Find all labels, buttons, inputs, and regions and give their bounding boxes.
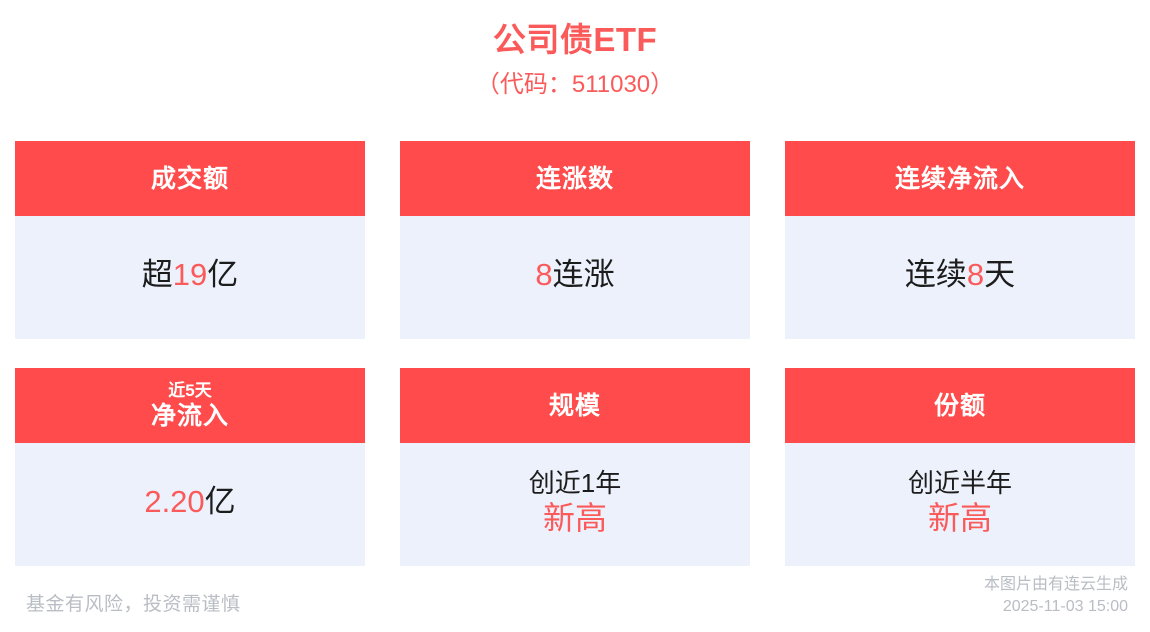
value-number: 19: [173, 257, 207, 292]
value-number: 2.20: [144, 484, 204, 519]
card-header-consecutive-gains: 连涨数: [400, 141, 750, 216]
card-body-fund-size: 创近1年 新高: [400, 443, 750, 566]
card-header-shares: 份额: [785, 368, 1135, 443]
card-header-label: 连涨数: [536, 163, 614, 195]
metric-card-grid: 成交额 超19亿 连涨数 8连涨 连续净流入 连续8天 近5天 净流入 2.20…: [15, 141, 1135, 566]
card-body-5day-net-inflow: 2.20亿: [15, 443, 365, 566]
page-title: 公司债ETF: [0, 18, 1150, 62]
card-value-line: 创近1年: [529, 467, 621, 499]
card-header-5day-net-inflow: 近5天 净流入: [15, 368, 365, 443]
page-header: 公司债ETF （代码：511030）: [0, 0, 1150, 104]
value-suffix: 天: [984, 257, 1015, 292]
metric-card-consecutive-net-inflow[interactable]: 连续净流入 连续8天: [785, 141, 1135, 339]
value-prefix: 连续: [905, 257, 967, 292]
card-value-highlight: 新高: [543, 499, 607, 537]
credit-timestamp: 2025-11-03 15:00: [984, 596, 1128, 618]
card-body-turnover: 超19亿: [15, 216, 365, 339]
card-header-label: 净流入: [151, 401, 229, 431]
value-prefix: 超: [142, 257, 173, 292]
value-suffix: 亿: [207, 257, 238, 292]
risk-disclaimer: 基金有风险，投资需谨慎: [26, 592, 241, 618]
card-value-line: 创近半年: [908, 467, 1012, 499]
card-header-consecutive-net-inflow: 连续净流入: [785, 141, 1135, 216]
generation-credit: 本图片由有连云生成 2025-11-03 15:00: [984, 574, 1128, 618]
metric-card-5day-net-inflow[interactable]: 近5天 净流入 2.20亿: [15, 368, 365, 566]
card-value-line: 8连涨: [535, 255, 614, 295]
metric-card-turnover[interactable]: 成交额 超19亿: [15, 141, 365, 339]
metric-card-shares[interactable]: 份额 创近半年 新高: [785, 368, 1135, 566]
card-value-line: 连续8天: [905, 255, 1015, 295]
card-header-sublabel: 近5天: [168, 381, 211, 401]
card-body-consecutive-gains: 8连涨: [400, 216, 750, 339]
card-header-turnover: 成交额: [15, 141, 365, 216]
card-header-label: 连续净流入: [895, 163, 1025, 195]
card-value-highlight: 新高: [928, 499, 992, 537]
credit-source: 本图片由有连云生成: [984, 574, 1128, 596]
page-subtitle-code: （代码：511030）: [0, 62, 1150, 104]
card-header-label: 规模: [549, 390, 601, 422]
value-number: 8: [967, 257, 984, 292]
card-value-line: 超19亿: [142, 255, 238, 295]
value-number: 8: [535, 257, 552, 292]
value-suffix: 连涨: [553, 257, 615, 292]
metric-card-fund-size[interactable]: 规模 创近1年 新高: [400, 368, 750, 566]
card-body-consecutive-net-inflow: 连续8天: [785, 216, 1135, 339]
card-body-shares: 创近半年 新高: [785, 443, 1135, 566]
metric-card-consecutive-gains[interactable]: 连涨数 8连涨: [400, 141, 750, 339]
page-footer: 基金有风险，投资需谨慎 本图片由有连云生成 2025-11-03 15:00: [0, 566, 1150, 632]
card-header-label: 成交额: [151, 163, 229, 195]
card-value-line: 2.20亿: [144, 482, 235, 522]
card-header-fund-size: 规模: [400, 368, 750, 443]
card-header-label: 份额: [934, 390, 986, 422]
value-suffix: 亿: [205, 484, 236, 519]
